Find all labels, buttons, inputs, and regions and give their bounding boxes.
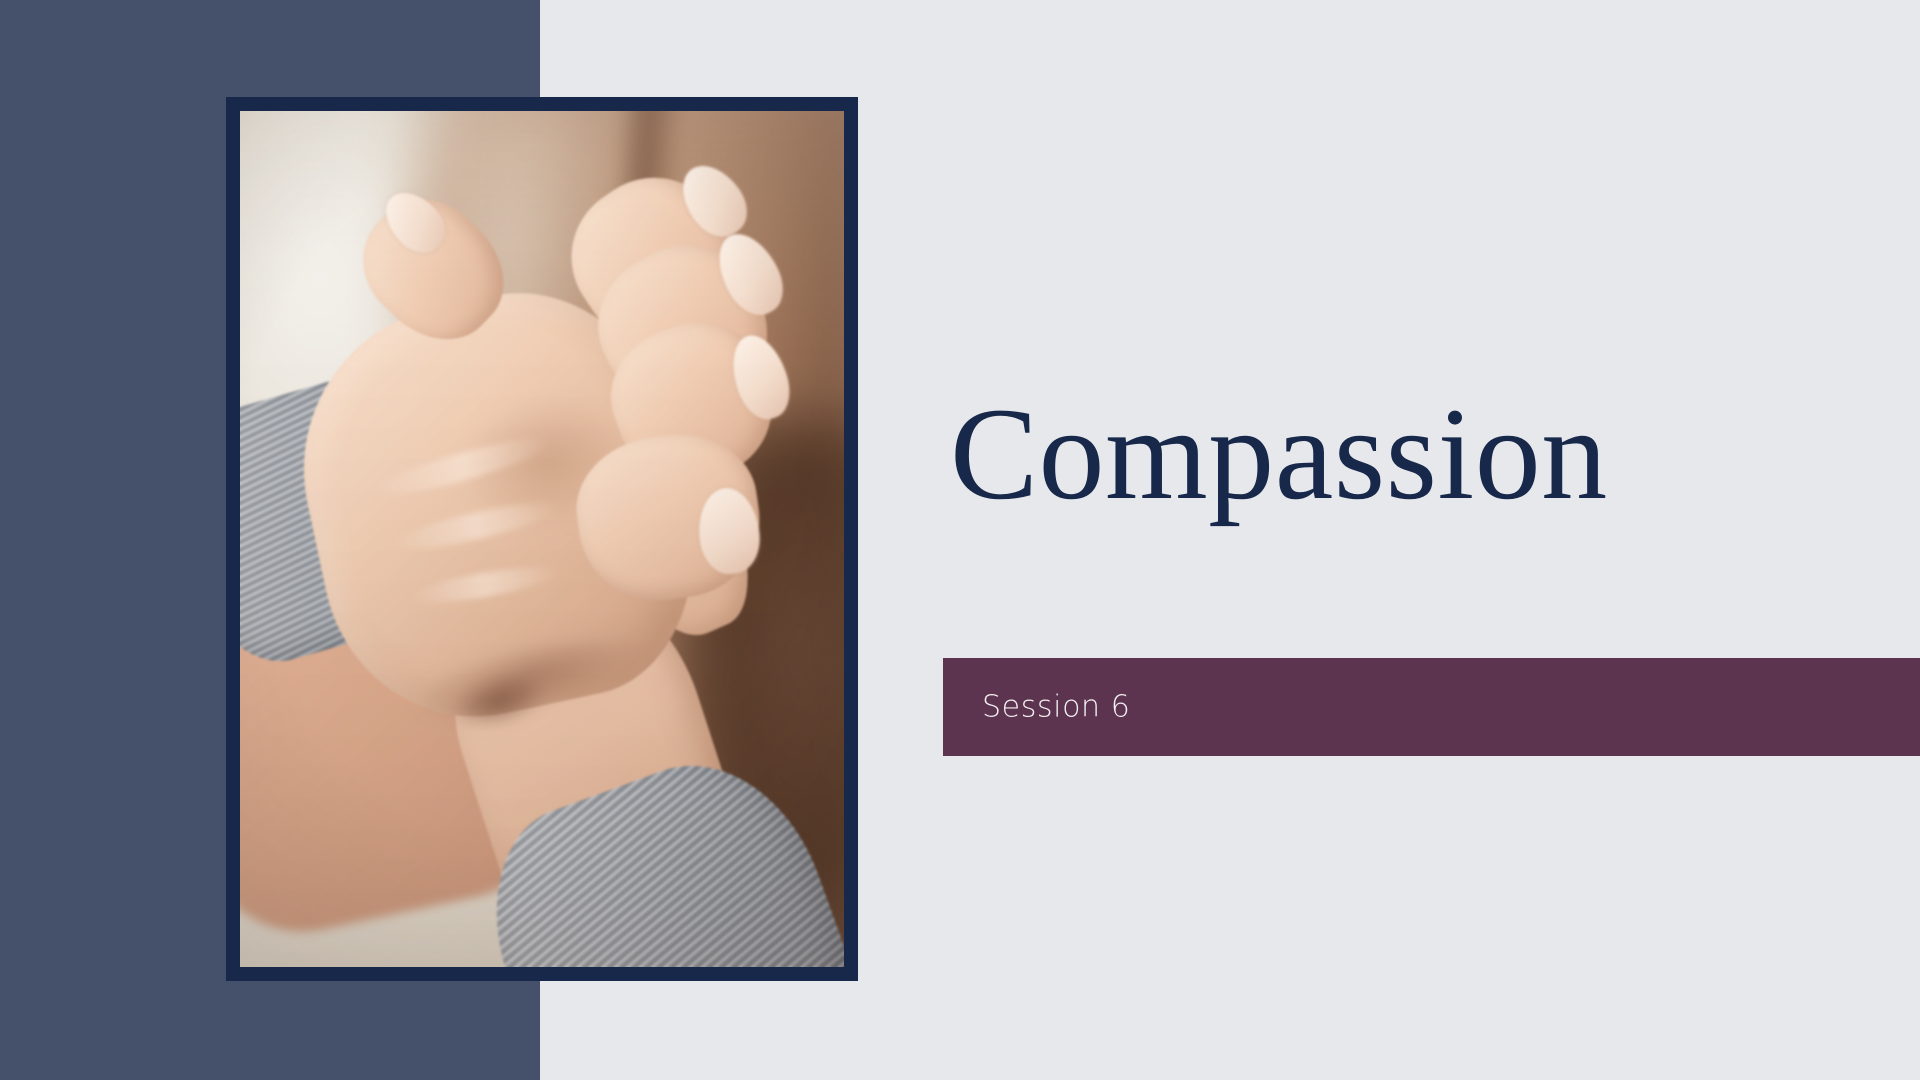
photo-clasped-hands-image (240, 111, 844, 967)
slide-title: Compassion (950, 388, 1608, 520)
session-label: Session 6 (982, 690, 1131, 725)
photo-frame (226, 97, 858, 981)
slide-canvas: Compassion Session 6 (0, 0, 1920, 1080)
session-band: Session 6 (943, 658, 1920, 756)
